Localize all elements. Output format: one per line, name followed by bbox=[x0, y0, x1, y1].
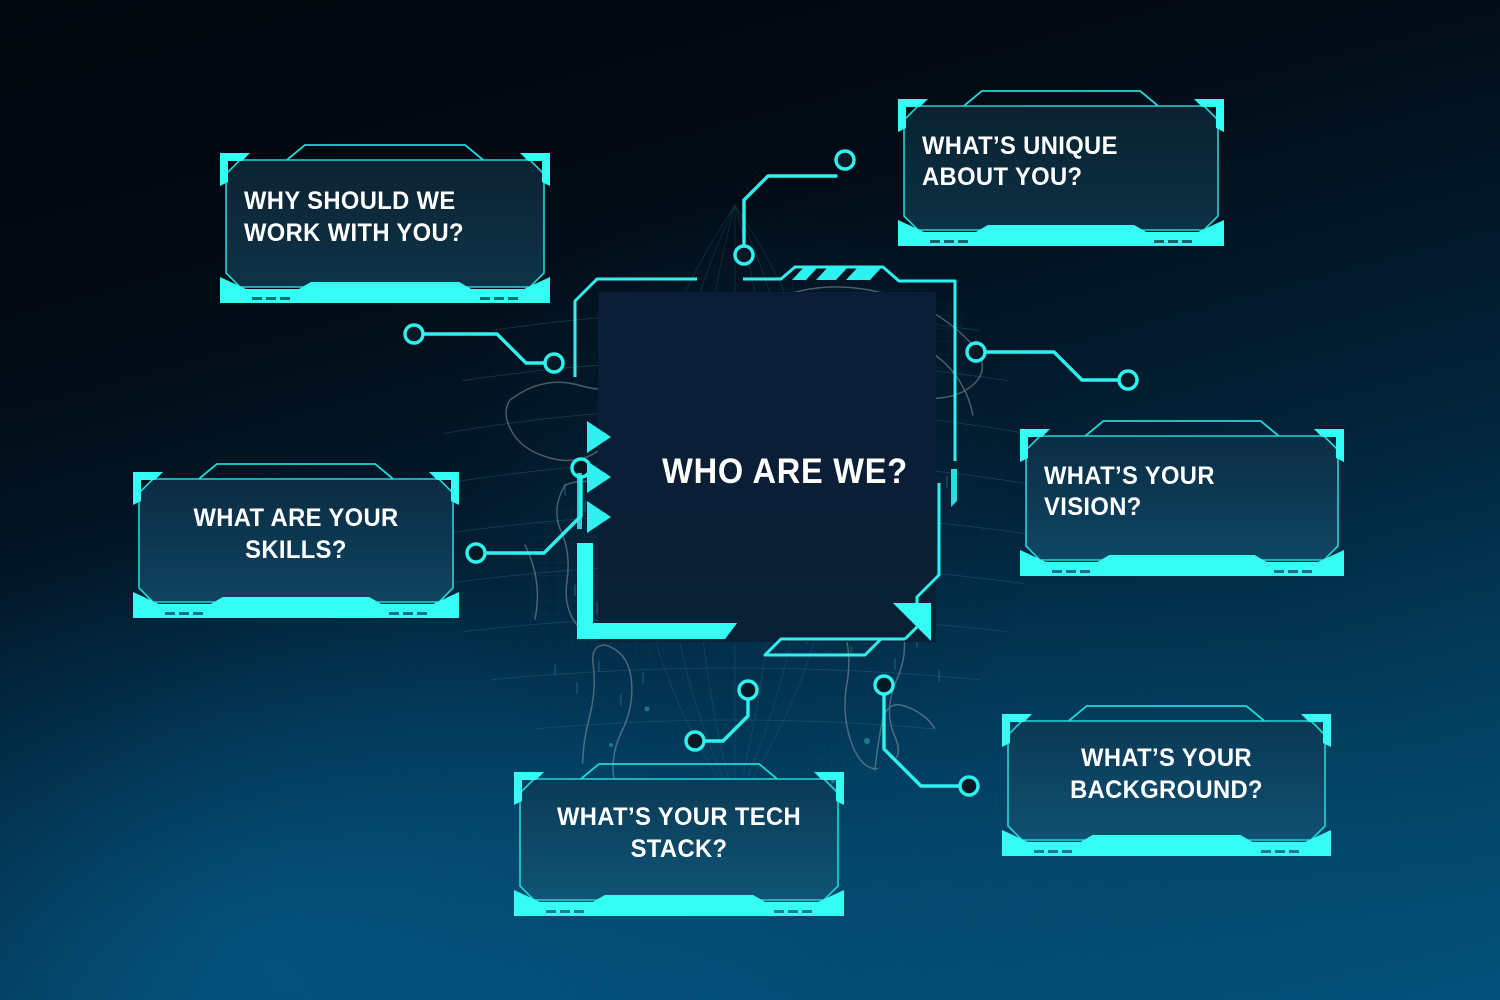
card-title: WHY SHOULD WE WORK WITH YOU? bbox=[244, 156, 512, 279]
card-title: WHAT’S YOUR BACKGROUND? bbox=[1033, 717, 1300, 832]
connector-hub-to-why-work bbox=[423, 334, 545, 363]
connector-node bbox=[960, 777, 978, 795]
connector-node bbox=[545, 354, 563, 372]
connector-node bbox=[686, 732, 704, 750]
card-what-are-your-skills[interactable]: WHAT ARE YOUR SKILLS? bbox=[131, 461, 461, 620]
card-whats-your-tech-stack[interactable]: WHAT’S YOUR TECH STACK? bbox=[512, 761, 846, 918]
card-title: WHAT’S UNIQUE ABOUT YOU? bbox=[922, 102, 1186, 222]
connector-hub-to-tech bbox=[704, 699, 748, 741]
connector-node bbox=[1119, 371, 1137, 389]
card-whats-your-background[interactable]: WHAT’S YOUR BACKGROUND? bbox=[1000, 703, 1333, 858]
infographic-canvas: WHO ARE WE? WH bbox=[0, 0, 1500, 1000]
connector-hub-to-vision bbox=[985, 352, 1119, 380]
connector-node bbox=[405, 325, 423, 343]
hub-title: WHO ARE WE? bbox=[580, 265, 989, 685]
card-why-work-with-you[interactable]: WHY SHOULD WE WORK WITH YOU? bbox=[218, 142, 552, 305]
card-title: WHAT’S YOUR VISION? bbox=[1044, 432, 1306, 552]
card-title: WHAT ARE YOUR SKILLS? bbox=[164, 475, 428, 594]
connector-hub-to-unique bbox=[744, 176, 836, 246]
who-are-we-hub[interactable]: WHO ARE WE? bbox=[565, 265, 1005, 685]
card-whats-unique-about-you[interactable]: WHAT’S UNIQUE ABOUT YOU? bbox=[896, 88, 1226, 248]
connector-node bbox=[836, 151, 854, 169]
card-title: WHAT’S YOUR TECH STACK? bbox=[545, 775, 813, 892]
connector-hub-to-background bbox=[884, 694, 960, 786]
connector-node bbox=[735, 246, 753, 264]
card-whats-your-vision[interactable]: WHAT’S YOUR VISION? bbox=[1018, 418, 1346, 578]
connector-node bbox=[467, 544, 485, 562]
